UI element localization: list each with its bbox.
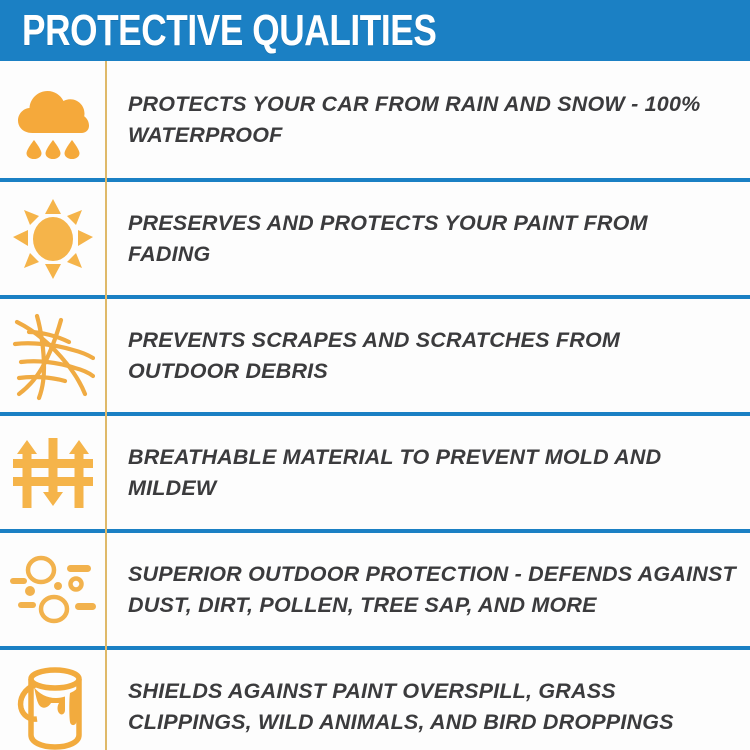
feature-list: PROTECTS YOUR CAR FROM RAIN AND SNOW - 1… [0, 61, 750, 750]
icon-cell [0, 182, 106, 295]
feature-row: BREATHABLE MATERIAL TO PREVENT MOLD AND … [0, 412, 750, 529]
icon-cell [0, 416, 106, 529]
text-cell: PROTECTS YOUR CAR FROM RAIN AND SNOW - 1… [106, 89, 750, 151]
icon-cell [0, 61, 106, 178]
rain-cloud-icon [16, 81, 90, 159]
feature-text: PREVENTS SCRAPES AND SCRATCHES FROM OUTD… [128, 325, 736, 387]
feature-row: PREVENTS SCRAPES AND SCRATCHES FROM OUTD… [0, 295, 750, 412]
header-bar: PROTECTIVE QUALITIES [0, 0, 750, 61]
page-title: PROTECTIVE QUALITIES [22, 9, 436, 53]
feature-text: PRESERVES AND PROTECTS YOUR PAINT FROM F… [128, 208, 736, 270]
protective-qualities-infographic: PROTECTIVE QUALITIES PROTEC [0, 0, 750, 750]
text-cell: SHIELDS AGAINST PAINT OVERSPILL, GRASS C… [106, 676, 750, 738]
breathable-airflow-icon [13, 432, 93, 514]
feature-row: SHIELDS AGAINST PAINT OVERSPILL, GRASS C… [0, 646, 750, 750]
feature-row: PRESERVES AND PROTECTS YOUR PAINT FROM F… [0, 178, 750, 295]
feature-row: PROTECTS YOUR CAR FROM RAIN AND SNOW - 1… [0, 61, 750, 178]
feature-text: SUPERIOR OUTDOOR PROTECTION - DEFENDS AG… [128, 559, 736, 621]
text-cell: PREVENTS SCRAPES AND SCRATCHES FROM OUTD… [106, 325, 750, 387]
feature-text: BREATHABLE MATERIAL TO PREVENT MOLD AND … [128, 442, 736, 504]
text-cell: PRESERVES AND PROTECTS YOUR PAINT FROM F… [106, 208, 750, 270]
icon-cell [0, 299, 106, 412]
dust-particles-icon [10, 553, 96, 627]
scratch-mesh-icon [11, 310, 95, 402]
icon-cell [0, 533, 106, 646]
feature-text: SHIELDS AGAINST PAINT OVERSPILL, GRASS C… [128, 676, 736, 738]
feature-row: SUPERIOR OUTDOOR PROTECTION - DEFENDS AG… [0, 529, 750, 646]
sun-icon [13, 199, 93, 279]
feature-text: PROTECTS YOUR CAR FROM RAIN AND SNOW - 1… [128, 89, 736, 151]
text-cell: SUPERIOR OUTDOOR PROTECTION - DEFENDS AG… [106, 559, 750, 621]
icon-cell [0, 650, 106, 750]
text-cell: BREATHABLE MATERIAL TO PREVENT MOLD AND … [106, 442, 750, 504]
paint-can-icon [15, 663, 91, 750]
